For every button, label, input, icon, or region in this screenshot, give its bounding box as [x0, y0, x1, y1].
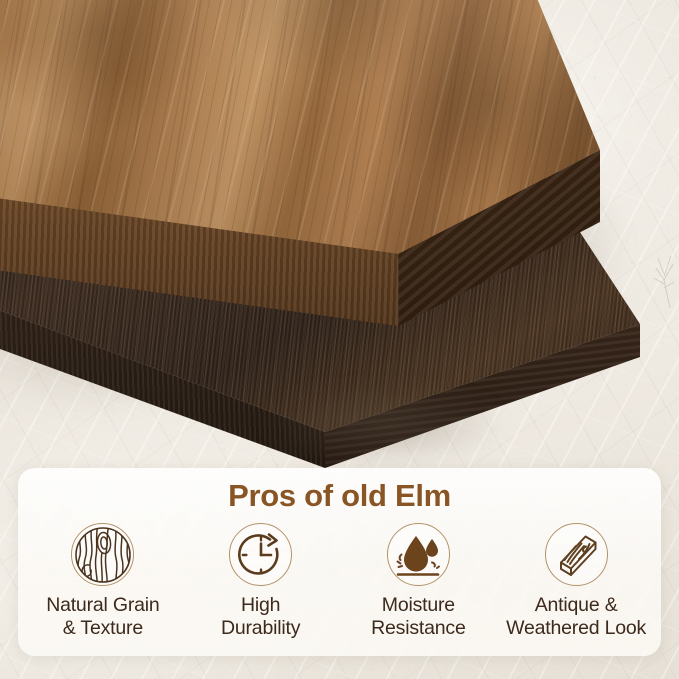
wood-grain-icon: [73, 525, 133, 585]
wood-grain-icon-badge: [71, 523, 134, 586]
feature-natural-grain[interactable]: Natural Grain & Texture: [24, 523, 182, 640]
water-drop-icon: [392, 529, 444, 581]
feature-high-durability[interactable]: High Durability: [182, 523, 340, 640]
feature-antique-weathered[interactable]: Antique & Weathered Look: [497, 523, 655, 640]
feature-moisture-resistance[interactable]: Moisture Resistance: [340, 523, 498, 640]
product-infographic: Pros of old Elm: [0, 0, 679, 679]
feature-label-natural-grain: Natural Grain & Texture: [46, 594, 159, 640]
wood-plank-icon: [550, 529, 602, 581]
clock-arrow-icon: [236, 530, 286, 580]
feature-label-moisture-resistance: Moisture Resistance: [371, 594, 465, 640]
pros-info-card: Pros of old Elm: [18, 468, 661, 656]
natural-elm-board: [0, 0, 600, 342]
water-drop-icon-badge: [387, 523, 450, 586]
feature-list: Natural Grain & Texture: [18, 523, 661, 640]
feature-label-antique-weathered: Antique & Weathered Look: [506, 594, 646, 640]
clock-arrow-icon-badge: [229, 523, 292, 586]
dried-sprig-icon: [640, 250, 678, 310]
wood-plank-icon-badge: [545, 523, 608, 586]
card-title: Pros of old Elm: [18, 478, 661, 514]
feature-label-high-durability: High Durability: [221, 594, 300, 640]
